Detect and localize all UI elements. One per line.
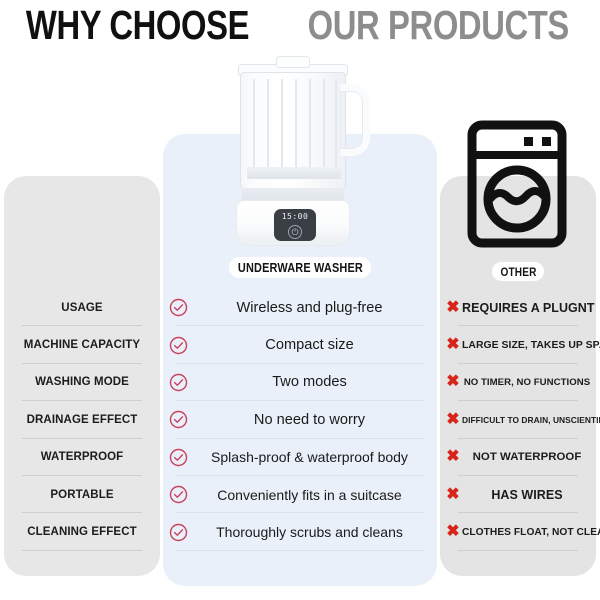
- check-circle-icon: [169, 336, 188, 355]
- product-badge: UNDERWARE WASHER: [229, 257, 371, 278]
- feature-label: DRAINAGE EFFECT: [4, 414, 160, 426]
- competitor-feature-row: ✖NO TIMER, NO FUNCTIONS: [440, 364, 596, 401]
- other-badge: OTHER: [492, 262, 544, 281]
- product-feature-text: Conveniently fits in a suitcase: [188, 487, 437, 503]
- feature-row: DRAINAGE EFFECT: [4, 401, 160, 438]
- feature-row: WATERPROOF: [4, 439, 160, 476]
- product-feature-row: Compact size: [163, 326, 437, 363]
- competitor-feature-row: ✖CLOTHES FLOAT, NOT CLEAN: [440, 513, 596, 550]
- competitor-feature-row: ✖LARGE SIZE, TAKES UP SPACE: [440, 326, 596, 363]
- check-circle-icon: [169, 448, 188, 467]
- page-title-secondary: OUR PRODUCTS: [308, 5, 569, 46]
- check-circle-icon: [169, 298, 188, 317]
- cross-icon: ✖: [444, 412, 462, 428]
- product-feature-text: Two modes: [188, 374, 437, 390]
- product-base: 15:00 ⏻: [236, 200, 350, 246]
- power-icon: ⏻: [288, 225, 302, 239]
- product-badge-label: UNDERWARE WASHER: [237, 260, 362, 275]
- competitor-feature-row: ✖DIFFICULT TO DRAIN, UNSCIENTIFIC: [440, 401, 596, 438]
- product-handle: [340, 84, 370, 156]
- row-divider: [175, 550, 425, 551]
- comparison-infographic: WHY CHOOSE OUR PRODUCTS 15:00 ⏻: [0, 0, 600, 600]
- product-image: 15:00 ⏻: [224, 62, 376, 252]
- product-lid-knob: [276, 56, 310, 68]
- product-feature-row: No need to worry: [163, 401, 437, 438]
- competitor-feature-row: ✖NOT WATERPROOF: [440, 439, 596, 476]
- other-badge-label: OTHER: [500, 265, 536, 279]
- cross-icon: ✖: [444, 300, 462, 316]
- page-title-primary: WHY CHOOSE: [26, 5, 249, 46]
- check-circle-icon: [169, 410, 188, 429]
- product-display: 15:00 ⏻: [274, 209, 316, 241]
- feature-row: CLEANING EFFECT: [4, 513, 160, 550]
- product-feature-text: Compact size: [188, 337, 437, 353]
- competitor-feature-row: ✖HAS WIRES: [440, 476, 596, 513]
- feature-row: PORTABLE: [4, 476, 160, 513]
- check-circle-icon: [169, 485, 188, 504]
- feature-label: WATERPROOF: [4, 451, 160, 463]
- competitor-feature-column: ✖REQUIRES A PLUGNT✖LARGE SIZE, TAKES UP …: [440, 289, 596, 551]
- feature-label: WASHING MODE: [4, 376, 160, 388]
- product-feature-column: Wireless and plug-freeCompact sizeTwo mo…: [163, 289, 437, 551]
- product-feature-row: Thoroughly scrubs and cleans: [163, 513, 437, 550]
- competitor-feature-text: REQUIRES A PLUGNT: [462, 301, 599, 315]
- competitor-feature-row: ✖REQUIRES A PLUGNT: [440, 289, 596, 326]
- product-feature-row: Conveniently fits in a suitcase: [163, 476, 437, 513]
- product-feature-text: Wireless and plug-free: [188, 300, 437, 316]
- product-feature-text: Thoroughly scrubs and cleans: [188, 524, 437, 540]
- cross-icon: ✖: [444, 487, 462, 503]
- feature-row: USAGE: [4, 289, 160, 326]
- cross-icon: ✖: [444, 524, 462, 540]
- display-time: 15:00: [274, 212, 316, 221]
- product-feature-text: No need to worry: [188, 412, 437, 428]
- competitor-feature-text: CLOTHES FLOAT, NOT CLEAN: [462, 527, 600, 538]
- competitor-feature-text: NOT WATERPROOF: [462, 451, 596, 463]
- product-feature-row: Two modes: [163, 364, 437, 401]
- page-title: WHY CHOOSE OUR PRODUCTS: [0, 2, 600, 48]
- check-circle-icon: [169, 523, 188, 542]
- product-feature-text: Splash-proof & waterproof body: [188, 449, 437, 465]
- feature-row: MACHINE CAPACITY: [4, 326, 160, 363]
- product-feature-row: Splash-proof & waterproof body: [163, 439, 437, 476]
- check-circle-icon: [169, 373, 188, 392]
- feature-label: CLEANING EFFECT: [4, 526, 160, 538]
- feature-row: WASHING MODE: [4, 364, 160, 401]
- feature-label-column: USAGEMACHINE CAPACITYWASHING MODEDRAINAG…: [4, 289, 160, 551]
- row-divider: [458, 550, 578, 551]
- competitor-feature-text: DIFFICULT TO DRAIN, UNSCIENTIFIC: [462, 415, 600, 425]
- competitor-feature-text: LARGE SIZE, TAKES UP SPACE: [462, 340, 600, 351]
- feature-label: MACHINE CAPACITY: [4, 339, 160, 351]
- cross-icon: ✖: [444, 374, 462, 390]
- washing-machine-icon: [466, 120, 568, 248]
- competitor-feature-text: HAS WIRES: [462, 488, 596, 502]
- feature-label: PORTABLE: [4, 489, 160, 501]
- feature-label: USAGE: [4, 302, 160, 314]
- product-feature-row: Wireless and plug-free: [163, 289, 437, 326]
- row-divider: [22, 550, 142, 551]
- competitor-feature-text: NO TIMER, NO FUNCTIONS: [462, 377, 596, 388]
- product-jar: [240, 72, 346, 190]
- cross-icon: ✖: [444, 449, 462, 465]
- cross-icon: ✖: [444, 337, 462, 353]
